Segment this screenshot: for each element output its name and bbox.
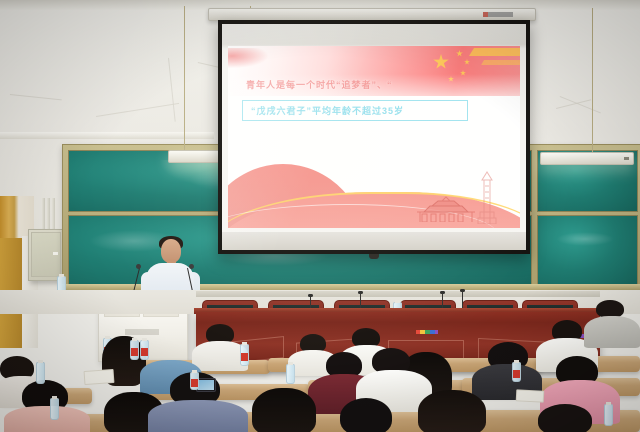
notebook[interactable]: [516, 389, 545, 402]
lecture-hall-photo: 青年人是每一个时代“追梦者”、“ “戊戌六君子”平均年龄不超过35岁: [0, 0, 640, 432]
notebook[interactable]: [84, 369, 115, 385]
conduit-pipe: [52, 198, 55, 232]
projector-brand-logo: [483, 12, 513, 17]
bottle-cap: [242, 342, 247, 345]
water-bottle[interactable]: [240, 344, 249, 366]
bottle-cap: [142, 338, 147, 341]
bottle-cap: [52, 396, 57, 399]
screen-surface: 青年人是每一个时代“追梦者”、“ “戊戌六君子”平均年龄不超过35岁: [222, 24, 526, 250]
monument-icon: [476, 166, 498, 224]
presentation-slide: 青年人是每一个时代“追梦者”、“ “戊戌六君子”平均年龄不超过35岁: [228, 46, 520, 228]
conduit-pipe: [47, 198, 50, 232]
bottle-label: [241, 353, 248, 361]
wall-crack: [168, 58, 176, 122]
microphone-head: [136, 264, 141, 269]
slide-highlight-box: “戊戌六君子”平均年龄不超过35岁: [242, 100, 468, 121]
panel-latch: [53, 252, 58, 255]
chalk-smudge: [556, 232, 614, 246]
projection-screen[interactable]: 青年人是每一个时代“追梦者”、“ “戊戌六君子”平均年龄不超过35岁: [218, 20, 530, 254]
wall-molding: [0, 132, 214, 139]
phone-screen: [198, 380, 214, 390]
flag-streak: [469, 48, 520, 56]
water-bottle[interactable]: [512, 362, 521, 382]
water-bottle[interactable]: [190, 372, 199, 390]
bottle-cap: [105, 336, 110, 339]
bottle-cap: [59, 274, 64, 277]
podium-emblem: [125, 329, 159, 335]
water-bottle[interactable]: [36, 362, 45, 384]
screen-bottom-weight: [369, 254, 379, 259]
bottle-cap: [192, 370, 197, 373]
chalkboard-panel-lower-right: [537, 215, 638, 287]
slide-boxed-text: “戊戌六君子”平均年龄不超过35岁: [251, 104, 404, 117]
water-bottle[interactable]: [130, 340, 139, 360]
lamp-indicator: [624, 157, 629, 160]
slide-corner-accent: [228, 48, 268, 68]
wall-crack: [10, 94, 62, 100]
bottle-cap: [288, 362, 293, 365]
lamp-wire: [592, 8, 593, 156]
bottle-label: [191, 379, 198, 387]
microphone-head: [440, 291, 445, 294]
bottle-cap: [514, 360, 519, 363]
color-calibration-strip: [416, 330, 438, 334]
smartphone[interactable]: [196, 378, 216, 392]
microphone-head: [358, 291, 363, 294]
bottle-label: [131, 348, 138, 356]
wall-crack: [96, 103, 179, 117]
water-bottle[interactable]: [140, 340, 149, 360]
microphone-head: [189, 264, 194, 269]
water-bottle[interactable]: [286, 364, 295, 384]
bottle-cap: [38, 360, 43, 363]
conduit-pipe: [42, 198, 45, 232]
hanging-fluorescent-lamp: [540, 152, 634, 165]
bottle-cap: [395, 300, 400, 303]
bottle-cap: [606, 402, 611, 405]
desk-backdrop-strip: [196, 291, 600, 297]
water-bottle[interactable]: [604, 404, 613, 426]
lamp-wire: [184, 6, 185, 152]
tiananmen-gate-icon: [416, 196, 476, 222]
microphone-head: [460, 289, 465, 292]
flag-streak: [481, 60, 520, 65]
bottle-label: [141, 348, 148, 356]
screen-lower-band: [222, 232, 526, 250]
microphone-head: [308, 294, 313, 297]
slide-headline: 青年人是每一个时代“追梦者”、“: [246, 78, 506, 91]
bottle-label: [513, 370, 520, 378]
water-bottle[interactable]: [50, 398, 59, 420]
bottle-cap: [132, 338, 137, 341]
